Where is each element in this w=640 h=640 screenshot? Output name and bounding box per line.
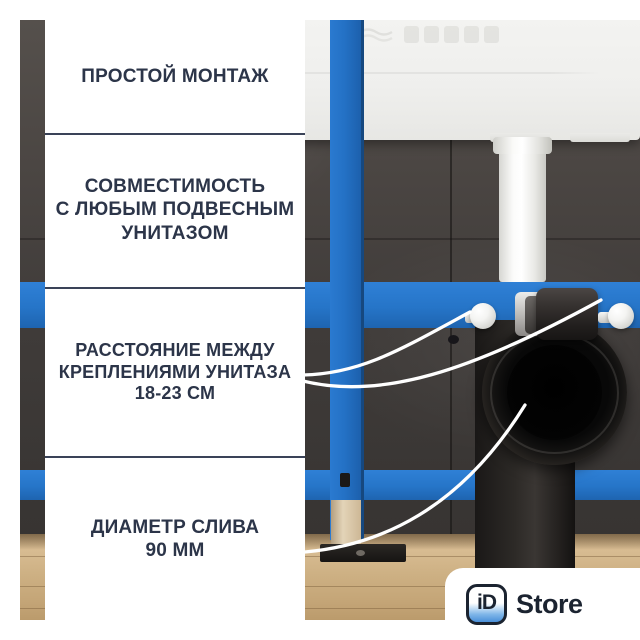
feature-line: С ЛЮБЫМ ПОДВЕСНЫМ <box>56 198 295 221</box>
wc-mounting-stud-right <box>608 303 634 329</box>
frame-clip <box>340 473 350 487</box>
feature-line: КРЕПЛЕНИЯМИ УНИТАЗА <box>59 362 291 384</box>
cistern-brand-emboss <box>358 24 548 46</box>
feature-mount-distance: РАССТОЯНИЕ МЕЖДУ КРЕПЛЕНИЯМИ УНИТАЗА 18-… <box>45 289 305 456</box>
feature-compatibility: СОВМЕСТИМОСТЬ С ЛЮБЫМ ПОДВЕСНЫМ УНИТАЗОМ <box>45 135 305 285</box>
wc-mounting-stud-left <box>470 303 496 329</box>
brand-logo[interactable]: iD Store <box>445 568 640 640</box>
feature-line: РАССТОЯНИЕ МЕЖДУ <box>59 340 291 362</box>
base-plate-bolt <box>356 550 365 556</box>
id-logo-mark-icon: iD <box>466 584 507 625</box>
feature-line: 90 ММ <box>91 539 259 562</box>
feature-compatibility-text: СОВМЕСТИМОСТЬ С ЛЮБЫМ ПОДВЕСНЫМ УНИТАЗОМ <box>56 175 295 245</box>
feature-simple-install-text: ПРОСТОЙ МОНТАЖ <box>81 65 268 88</box>
drain-pipe-bore <box>507 345 602 440</box>
flush-pipe <box>499 137 546 282</box>
feature-line: СОВМЕСТИМОСТЬ <box>56 175 295 198</box>
feature-line: УНИТАЗОМ <box>56 222 295 245</box>
brand-logo-word: Store <box>516 589 583 620</box>
feature-list-panel: ПРОСТОЙ МОНТАЖ СОВМЕСТИМОСТЬ С ЛЮБЫМ ПОД… <box>45 20 305 620</box>
black-fitting <box>536 288 598 340</box>
feature-simple-install: ПРОСТОЙ МОНТАЖ <box>45 20 305 133</box>
cistern-foot <box>570 133 630 142</box>
feature-mount-distance-text: РАССТОЯНИЕ МЕЖДУ КРЕПЛЕНИЯМИ УНИТАЗА 18-… <box>59 340 291 406</box>
promo-banner: ПРОСТОЙ МОНТАЖ СОВМЕСТИМОСТЬ С ЛЮБЫМ ПОД… <box>0 0 640 640</box>
feature-drain-diameter-text: ДИАМЕТР СЛИВА 90 ММ <box>91 516 259 562</box>
feature-line: 18-23 СМ <box>59 383 291 405</box>
flush-pipe-collar <box>493 137 552 154</box>
feature-line: ПРОСТОЙ МОНТАЖ <box>81 65 268 88</box>
frame-post-edge <box>361 20 364 540</box>
feature-line: ДИАМЕТР СЛИВА <box>91 516 259 539</box>
feature-drain-diameter: ДИАМЕТР СЛИВА 90 ММ <box>45 458 305 620</box>
frame-vertical-post <box>330 20 362 540</box>
frame-hole <box>448 335 459 344</box>
id-logo-mark-text: iD <box>477 592 496 613</box>
